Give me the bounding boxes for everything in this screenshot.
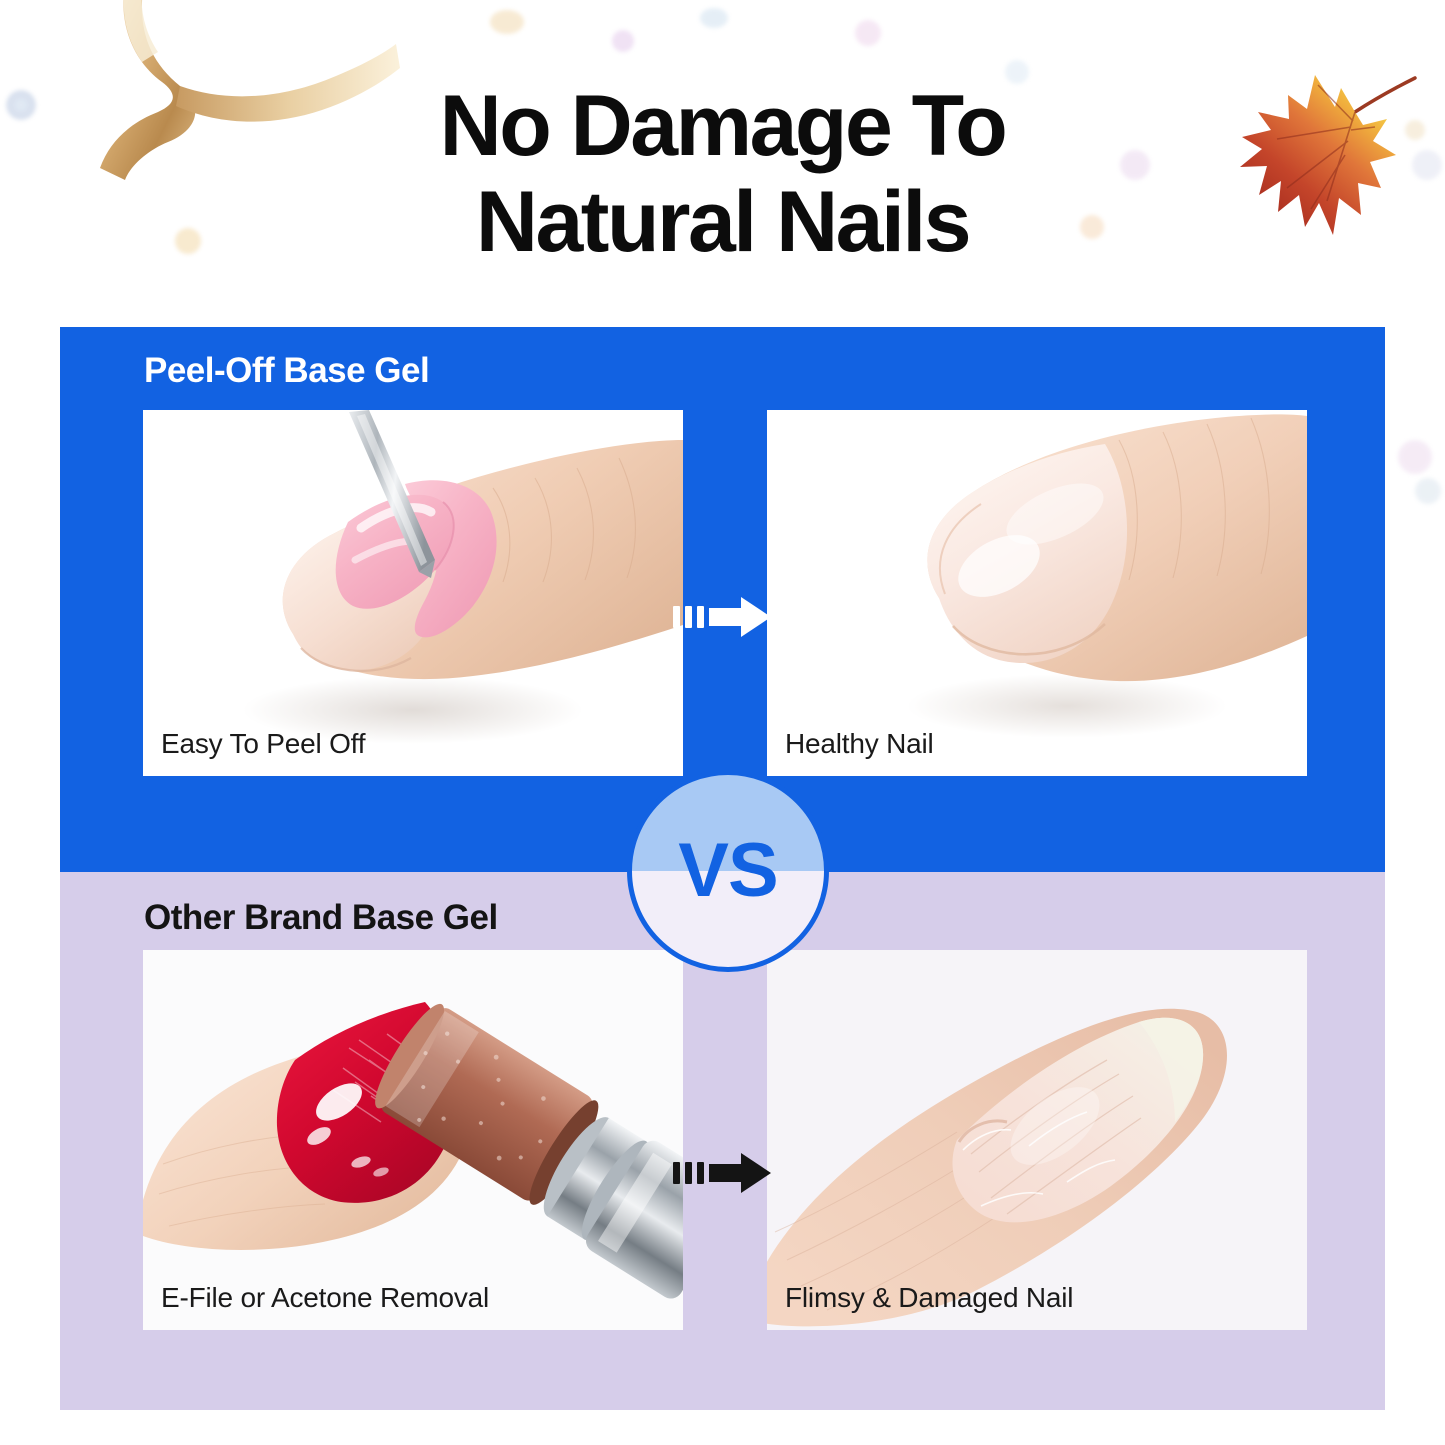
caption-easy-to-peel-off: Easy To Peel Off [161,728,365,760]
photo-artwork-peel-off [143,410,683,776]
photo-damaged-nail: Flimsy & Damaged Nail [767,950,1307,1330]
arrow-dash [673,606,680,628]
page-title: No Damage To Natural Nails [0,78,1445,271]
photo-artwork-damaged-nail [767,950,1307,1330]
confetti-dot [700,8,728,28]
arrow-right-icon-bottom [673,1153,771,1193]
photo-easy-to-peel-off: Easy To Peel Off [143,410,683,776]
comparison-panel: Peel-Off Base Gel Other Brand Base Gel [60,327,1385,1410]
confetti-dot [612,30,634,52]
caption-healthy-nail: Healthy Nail [785,728,934,760]
photo-artwork-efile [143,950,683,1330]
arrow-dash [685,1162,692,1184]
confetti-dot [490,10,524,34]
confetti-dot [1398,440,1432,474]
headline-line-2: Natural Nails [0,174,1445,270]
vs-badge: VS [627,770,829,972]
arrow-head-bottom [709,1153,771,1193]
photo-artwork-healthy-nail [767,410,1307,776]
vs-label: VS [678,833,777,909]
photo-efile-removal: E-File or Acetone Removal [143,950,683,1330]
peel-off-section-title: Peel-Off Base Gel [144,351,429,391]
confetti-dot [855,20,881,46]
photo-healthy-nail: Healthy Nail [767,410,1307,776]
caption-efile-removal: E-File or Acetone Removal [161,1282,489,1314]
arrow-dash [685,606,692,628]
arrow-dash [697,606,704,628]
confetti-dot [1415,478,1441,504]
arrow-head-top [709,597,771,637]
arrow-right-icon-top [673,597,771,637]
arrow-dash [697,1162,704,1184]
headline-line-1: No Damage To [440,78,1006,174]
arrow-dash [673,1162,680,1184]
other-brand-section-title: Other Brand Base Gel [144,898,498,938]
caption-damaged-nail: Flimsy & Damaged Nail [785,1282,1073,1314]
